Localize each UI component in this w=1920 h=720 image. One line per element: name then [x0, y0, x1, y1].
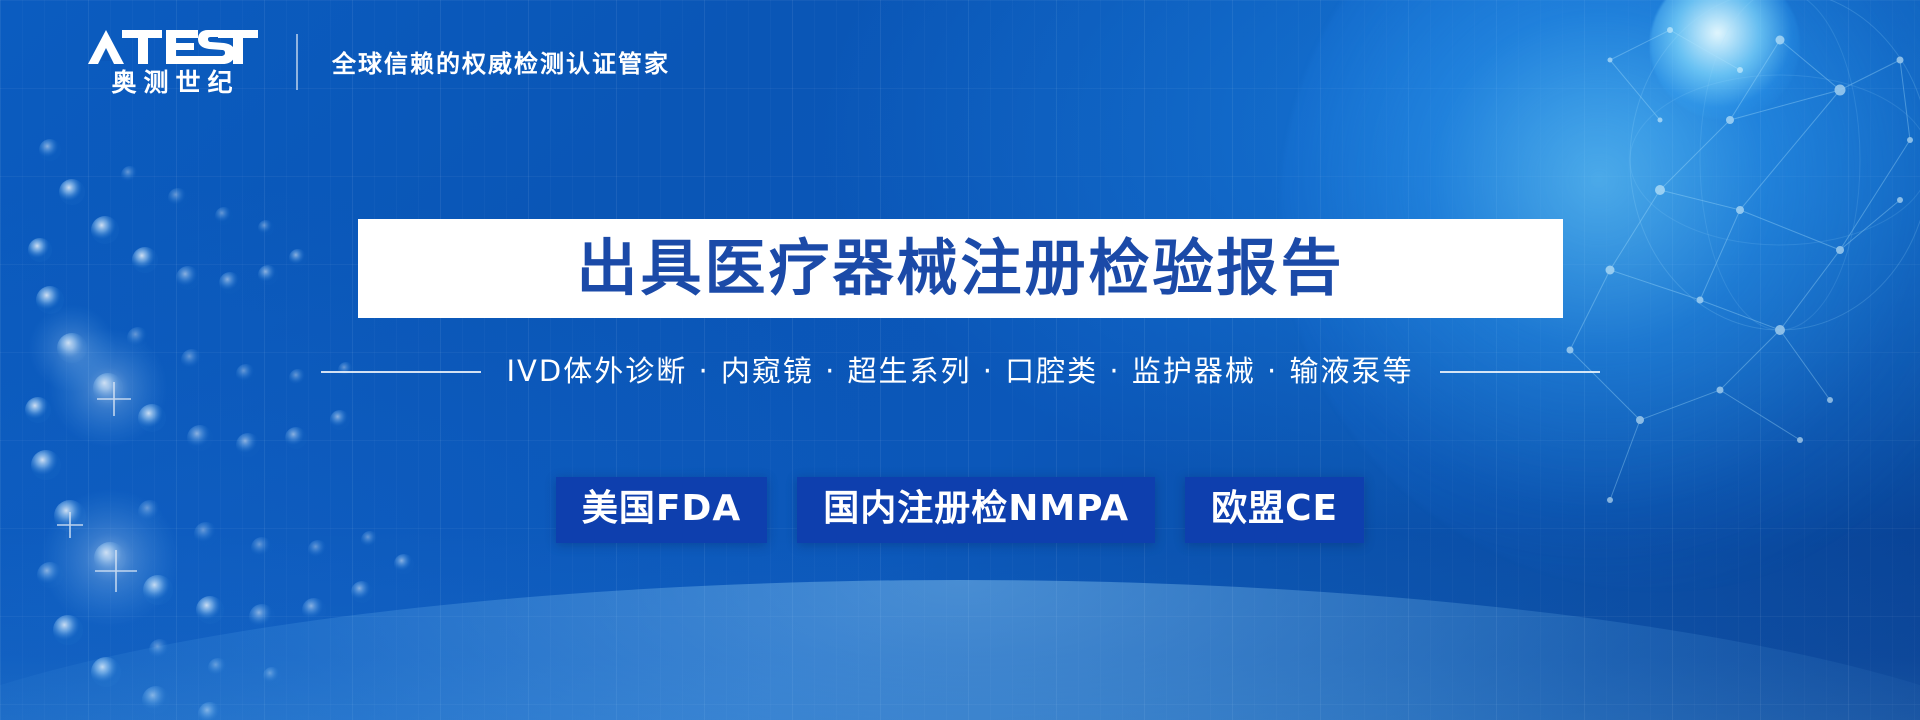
logo-block: 奥测世纪	[86, 28, 258, 95]
atest-logo-icon	[86, 28, 258, 66]
badge-nmpa[interactable]: 国内注册检NMPA	[797, 477, 1155, 543]
subtitle-text: IVD体外诊断 · 内窥镜 · 超生系列 · 口腔类 · 监护器械 · 输液泵等	[507, 357, 1414, 386]
promo-banner: 奥测世纪 全球信赖的权威检测认证管家 出具医疗器械注册检验报告 IVD体外诊断 …	[0, 0, 1920, 720]
certification-badges: 美国FDA 国内注册检NMPA 欧盟CE	[0, 477, 1920, 543]
banner-header: 奥测世纪 全球信赖的权威检测认证管家	[0, 0, 1920, 130]
headline-plate: 出具医疗器械注册检验报告	[358, 219, 1563, 318]
light-sweep-graphic	[0, 530, 1920, 720]
subtitle-rule-left	[321, 371, 481, 373]
page-title: 出具医疗器械注册检验报告	[576, 238, 1344, 299]
subtitle-rule-right	[1440, 371, 1600, 373]
badge-fda[interactable]: 美国FDA	[556, 477, 767, 543]
badge-ce[interactable]: 欧盟CE	[1185, 477, 1364, 543]
brand-tagline: 全球信赖的权威检测认证管家	[332, 44, 670, 79]
dna-helix-graphic	[10, 120, 530, 720]
brand-logo[interactable]: 奥测世纪 全球信赖的权威检测认证管家	[86, 28, 670, 95]
subtitle-row: IVD体外诊断 · 内窥镜 · 超生系列 · 口腔类 · 监护器械 · 输液泵等	[0, 357, 1920, 386]
light-sweep-arc-graphic	[0, 580, 1920, 720]
logo-divider	[296, 34, 298, 90]
logo-chinese-name: 奥测世纪	[104, 70, 239, 95]
